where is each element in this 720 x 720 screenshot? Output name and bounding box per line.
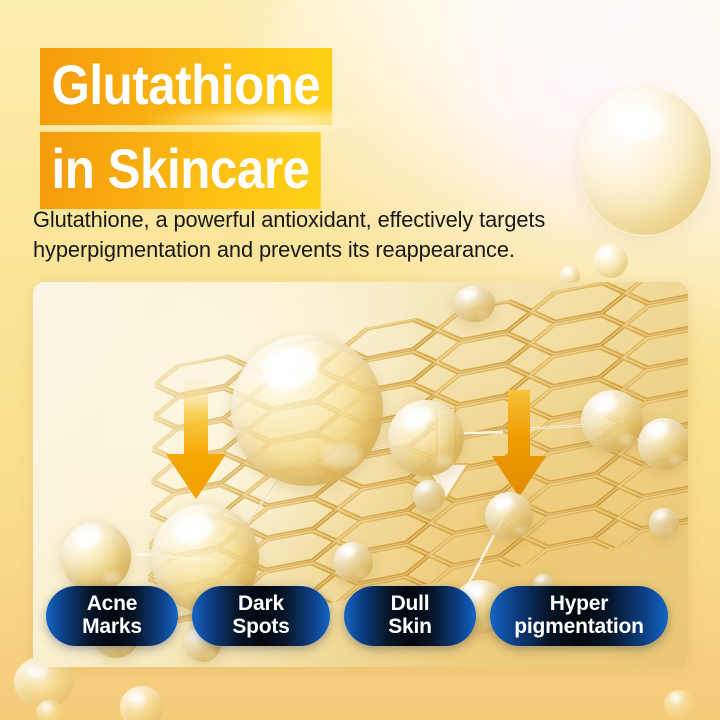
pill-acne-marks[interactable]: Acne Marks [46, 586, 178, 646]
title-line-1: Glutathione [40, 48, 332, 125]
serum-sphere [333, 542, 373, 582]
serum-sphere [581, 390, 643, 452]
serum-sphere [61, 522, 131, 592]
infographic-canvas: Glutathione in Skincare Glutathione, a p… [0, 0, 720, 720]
serum-sphere [649, 508, 679, 538]
pill-dark-spots-line-2: Spots [232, 616, 289, 639]
title-line-2: in Skincare [40, 132, 321, 209]
pill-hyperpigmentation-line-1: Hyper [514, 593, 643, 616]
down-arrow-icon [165, 380, 227, 500]
pill-dark-spots[interactable]: Dark Spots [192, 586, 330, 646]
down-arrow-icon [491, 390, 547, 498]
serum-droplet [453, 286, 495, 322]
pill-dark-spots-line-1: Dark [232, 593, 289, 616]
pill-dull-skin[interactable]: Dull Skin [344, 586, 476, 646]
subtitle-text: Glutathione, a powerful antioxidant, eff… [33, 205, 615, 265]
pill-acne-marks-line-2: Marks [82, 616, 142, 639]
concern-pill-group: Acne Marks Dark Spots Dull Skin Hyper pi… [46, 585, 696, 647]
pill-dull-skin-line-1: Dull [388, 593, 432, 616]
serum-sphere [485, 492, 533, 540]
pill-hyperpigmentation[interactable]: Hyper pigmentation [490, 586, 668, 646]
serum-sphere [638, 418, 688, 470]
pill-dull-skin-line-2: Skin [388, 616, 432, 639]
serum-sphere [413, 480, 445, 512]
pill-hyperpigmentation-line-2: pigmentation [514, 616, 643, 639]
title-banner-row-1: Glutathione [40, 48, 372, 125]
serum-sphere [388, 400, 464, 476]
serum-sphere-large [231, 334, 383, 486]
title-banner-row-2: in Skincare [40, 132, 372, 209]
page-title: Glutathione in Skincare [40, 48, 372, 209]
pill-acne-marks-line-1: Acne [82, 593, 142, 616]
